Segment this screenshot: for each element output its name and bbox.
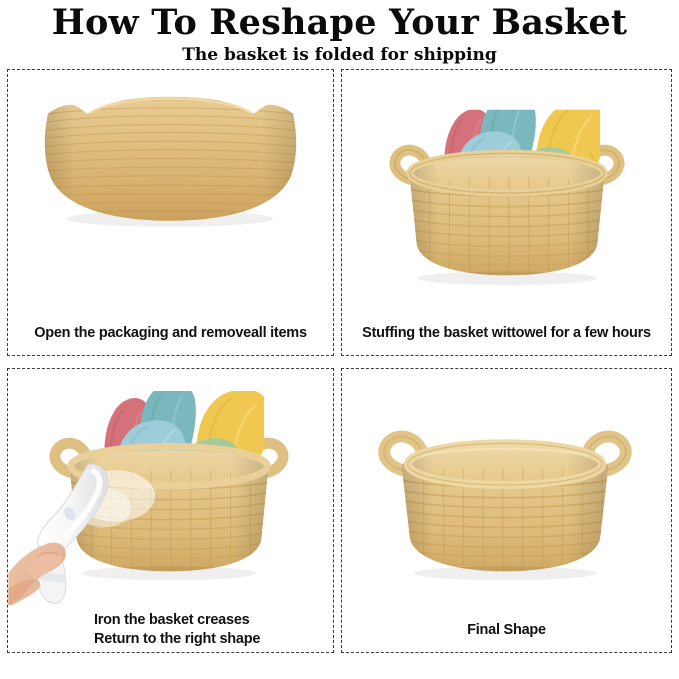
- step-4-caption-line1: Final Shape: [467, 621, 546, 640]
- step-3-caption-line2: Return to the right shape: [94, 630, 260, 649]
- steps-grid: Open the packaging and removeall items: [7, 69, 672, 653]
- step-panel-1: Open the packaging and removeall items: [7, 69, 334, 356]
- step-panel-2: Stuffing the basket wittowel for a few h…: [341, 69, 672, 356]
- step-2-caption: Stuffing the basket wittowel for a few h…: [342, 311, 671, 355]
- step-2-illustration: [342, 70, 671, 311]
- step-4-illustration: [342, 369, 671, 608]
- step-1-caption-line1: Open the packaging and removeall items: [34, 324, 307, 343]
- drop-shadow: [82, 566, 257, 580]
- basket-side-shading: [402, 444, 608, 571]
- step-3-caption-line1: Iron the basket creases: [94, 611, 249, 630]
- page-title: How To Reshape Your Basket: [0, 2, 679, 44]
- step-panel-3: Iron the basket creases Return to the ri…: [7, 368, 334, 653]
- empty-basket-art: [342, 369, 671, 608]
- drop-shadow: [414, 566, 596, 580]
- basket-with-towels-art: [342, 70, 671, 311]
- step-panel-4: Final Shape: [341, 368, 672, 653]
- page-subtitle: The basket is folded for shipping: [0, 44, 679, 66]
- step-3-illustration: [8, 369, 333, 608]
- drop-shadow: [418, 271, 597, 285]
- folded-basket-art: [8, 70, 333, 311]
- step-1-caption: Open the packaging and removeall items: [8, 311, 333, 355]
- step-2-caption-line1: Stuffing the basket wittowel for a few h…: [362, 324, 651, 343]
- basket-steamer-art: [8, 369, 333, 608]
- infographic-page: How To Reshape Your Basket The basket is…: [0, 0, 679, 679]
- step-4-caption: Final Shape: [342, 608, 671, 652]
- header: How To Reshape Your Basket The basket is…: [0, 0, 679, 68]
- step-3-caption: Iron the basket creases Return to the ri…: [8, 608, 333, 652]
- step-1-illustration: [8, 70, 333, 311]
- folded-basket-shading: [45, 97, 296, 221]
- basket-side-shading: [410, 157, 604, 275]
